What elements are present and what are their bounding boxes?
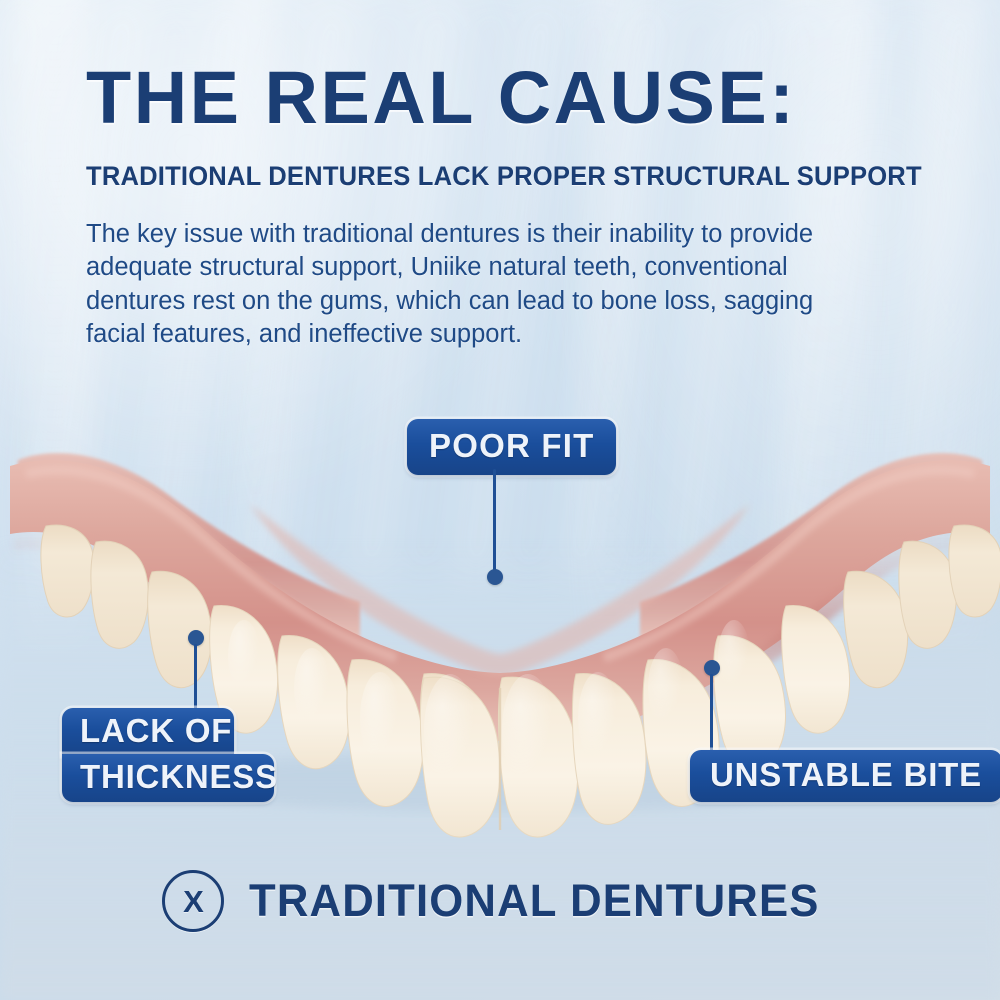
text-block: THE REAL CAUSE: TRADITIONAL DENTURES LAC…: [0, 0, 1000, 352]
page-subtitle: TRADITIONAL DENTURES LACK PROPER STRUCTU…: [86, 161, 914, 192]
body-line-1: The key issue with traditional dentures …: [86, 218, 944, 252]
bottom-caption: X TRADITIONAL DENTURES: [0, 870, 1000, 932]
callout-lack-of-thickness-label-line1[interactable]: LACK OF: [62, 708, 234, 756]
callout-poor-fit[interactable]: POOR FIT: [407, 419, 616, 475]
callout-poor-fit-anchor-dot: [487, 569, 503, 585]
callout-poor-fit-label[interactable]: POOR FIT: [407, 419, 616, 475]
callout-unstable-bite-label[interactable]: UNSTABLE BITE: [690, 750, 1000, 802]
callout-poor-fit-leader-line: [493, 469, 496, 579]
page-title: THE REAL CAUSE:: [86, 62, 944, 135]
callout-lack-of-thickness-leader-line: [194, 644, 197, 712]
poster-canvas: THE REAL CAUSE: TRADITIONAL DENTURES LAC…: [0, 0, 1000, 1000]
callout-unstable-bite-leader-line: [710, 674, 713, 752]
body-line-2: adequate structural support, Uniike natu…: [86, 251, 944, 285]
body-paragraph: The key issue with traditional dentures …: [86, 218, 944, 353]
body-line-3: dentures rest on the gums, which can lea…: [86, 285, 944, 319]
circle-x-icon: X: [162, 870, 224, 932]
callout-lack-of-thickness-label-line2[interactable]: THICKNESS: [62, 754, 274, 802]
callout-lack-of-thickness-badges[interactable]: LACK OF THICKNESS: [62, 708, 274, 802]
caption-label: TRADITIONAL DENTURES: [249, 875, 820, 927]
circle-x-icon-glyph: X: [183, 886, 204, 917]
body-line-4: facial features, and ineffective support…: [86, 318, 944, 352]
